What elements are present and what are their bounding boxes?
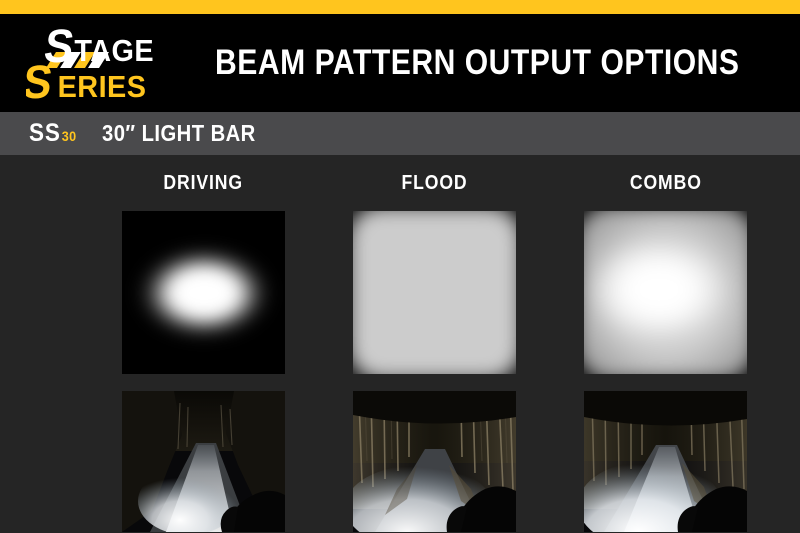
model-subtitle-bar: SS 30 30″ LIGHT BAR (0, 112, 800, 155)
svg-text:S: S (26, 56, 56, 104)
column-driving: DRIVING (87, 155, 320, 533)
model-badge-main: SS (29, 119, 61, 148)
model-badge-subscript: 30 (62, 128, 77, 144)
column-title-flood: FLOOD (402, 155, 468, 211)
svg-text:TAGE: TAGE (74, 34, 154, 68)
column-flood: FLOOD (318, 155, 551, 533)
page-header: S TAGE S ERIES BEAM PATTERN OUTPUT OPTIO… (0, 14, 800, 112)
top-accent-bar (0, 0, 800, 14)
road-photo-driving (122, 391, 285, 532)
column-combo: COMBO (549, 155, 782, 533)
beam-pattern-driving (122, 211, 285, 374)
road-photo-flood (353, 391, 516, 532)
page-title: BEAM PATTERN OUTPUT OPTIONS (215, 14, 740, 112)
model-badge: SS 30 (29, 119, 77, 148)
column-title-combo: COMBO (630, 155, 702, 211)
column-title-driving: DRIVING (164, 155, 244, 211)
beam-pattern-flood (353, 211, 516, 374)
product-subtitle: 30″ LIGHT BAR (102, 120, 256, 147)
road-photo-combo (584, 391, 747, 532)
beam-pattern-combo (584, 211, 747, 374)
svg-text:ERIES: ERIES (58, 70, 147, 104)
stage-series-logo: S TAGE S ERIES (26, 22, 176, 104)
beam-comparison-columns: DRIVING (0, 155, 800, 533)
